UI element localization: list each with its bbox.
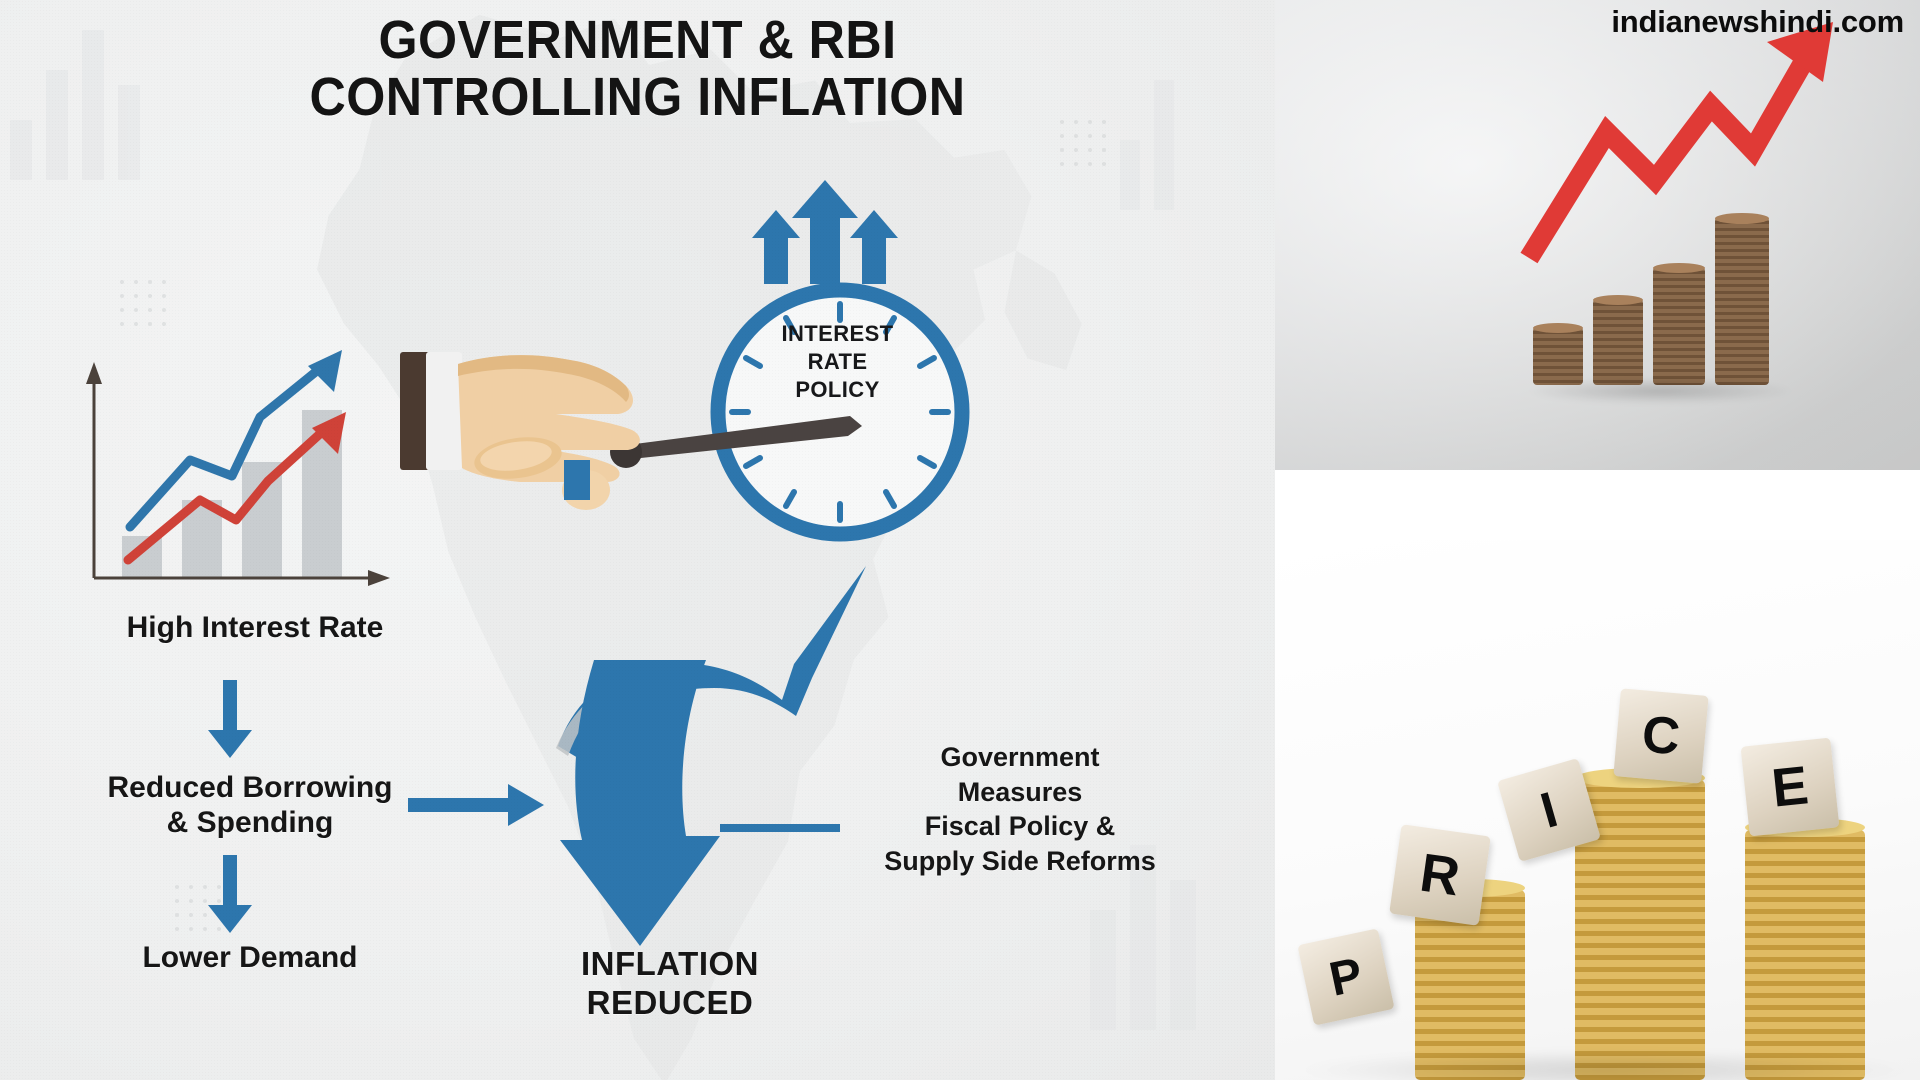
- down-arrow-icon-1: [200, 680, 260, 760]
- infographic-page: GOVERNMENT & RBI CONTROLLING INFLATION: [0, 0, 1920, 1080]
- infographic-panel: GOVERNMENT & RBI CONTROLLING INFLATION: [0, 0, 1275, 1080]
- down-arrow-icon-2: [200, 855, 260, 935]
- y-axis-arrowhead: [86, 362, 102, 384]
- dot-grid-left: [120, 280, 176, 336]
- price-letter-E: E: [1769, 754, 1811, 819]
- photo-gap: [1275, 470, 1920, 540]
- label-inflation-reduced: INFLATION REDUCED: [490, 945, 850, 1023]
- label-reduced-borrowing: Reduced Borrowing & Spending: [20, 770, 480, 841]
- price-letter-R: R: [1416, 842, 1463, 909]
- label-high-interest-rate: High Interest Rate: [40, 610, 470, 645]
- rising-coin-stacks-photo: [1275, 0, 1920, 470]
- coin-stack-price-right: [1745, 830, 1865, 1080]
- label-government-measures: Government Measures Fiscal Policy & Supp…: [830, 740, 1210, 878]
- site-watermark: indianewshindi.com: [1611, 4, 1904, 40]
- thick-down-arrow-icon: [560, 660, 770, 950]
- dot-grid-top-right: [1060, 120, 1116, 176]
- price-letter-tile-R: R: [1389, 824, 1491, 926]
- price-letter-tile-C: C: [1613, 688, 1708, 783]
- growth-chart: [50, 340, 390, 590]
- up-arrow-icon-large-center: [792, 180, 858, 284]
- label-lower-demand: Lower Demand: [40, 940, 460, 975]
- blue-line-arrowhead: [308, 350, 342, 392]
- price-letter-I: I: [1534, 780, 1563, 840]
- price-letter-tile-P: P: [1297, 928, 1394, 1025]
- coin-stack-2: [1593, 299, 1643, 385]
- price-letter-tile-E: E: [1741, 738, 1840, 837]
- x-axis-arrowhead: [368, 570, 390, 586]
- price-blocks-on-coins-photo: P R I C E: [1275, 540, 1920, 1080]
- coin-stack-3: [1653, 267, 1705, 385]
- hand-pointing-icon: [400, 330, 760, 530]
- price-letter-P: P: [1325, 947, 1368, 1007]
- red-rising-arrow-icon: [1515, 20, 1845, 270]
- gov-measures-connector-line: [720, 820, 840, 836]
- price-letter-C: C: [1640, 704, 1683, 767]
- page-title: GOVERNMENT & RBI CONTROLLING INFLATION: [45, 12, 1231, 125]
- coin-stack-1: [1533, 327, 1583, 385]
- blue-trend-line: [130, 370, 318, 527]
